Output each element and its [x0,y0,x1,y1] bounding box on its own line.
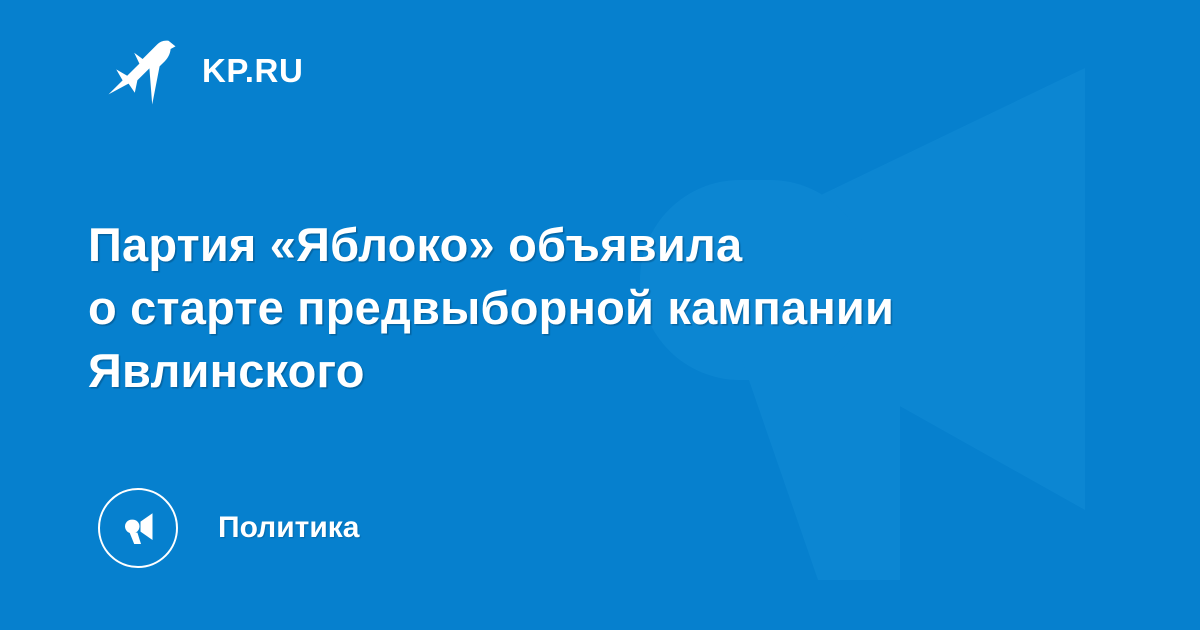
brand-header[interactable]: KP.RU [104,34,303,106]
brand-name: KP.RU [202,54,303,87]
swallow-bird-icon [104,34,176,106]
page-title: Партия «Яблоко» объявила о старте предвы… [88,213,1098,402]
share-card: KP.RU Партия «Яблоко» объявила о старте … [0,0,1200,630]
category-icon-circle [98,488,178,568]
headline-line-2: о старте предвыборной кампании [88,276,1098,339]
headline-line-3: Явлинского [88,339,1098,402]
headline-line-1: Партия «Яблоко» объявила [88,213,1098,276]
category-badge[interactable]: Политика [98,487,359,569]
category-label: Политика [218,513,359,543]
megaphone-icon [116,506,160,550]
